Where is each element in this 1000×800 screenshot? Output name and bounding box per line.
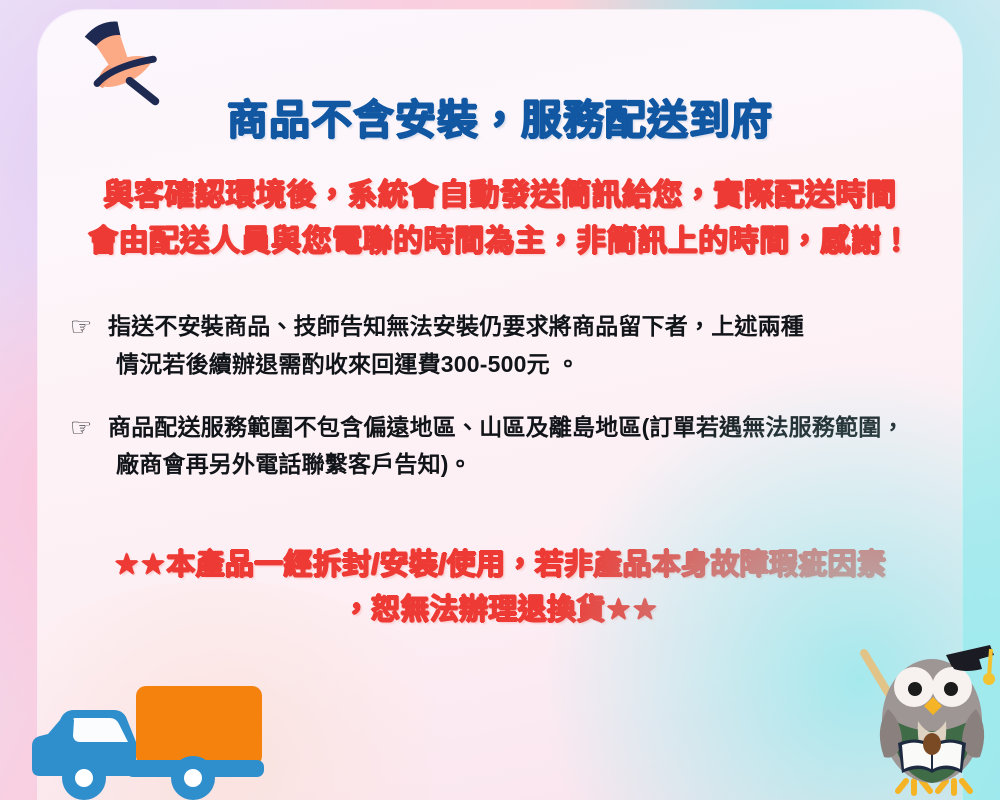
bullet-1-line-2: 情況若後續辦退需酌收來回運費300-500元 。 — [108, 346, 926, 383]
notice-card: 商品不含安裝，服務配送到府 與客確認環境後，系統會自動發送簡訊給您，實際配送時間… — [38, 10, 962, 800]
list-item: ☞ 指送不安裝商品、技師告知無法安裝仍要求將商品留下者，上述兩種 情況若後續辦退… — [70, 308, 926, 383]
lede-paragraph: 與客確認環境後，系統會自動發送簡訊給您，實際配送時間 會由配送人員與您電聯的時間… — [38, 143, 962, 264]
footnote-paragraph: ★★本產品一經拆封/安裝/使用，若非產品本身故障瑕疵因素 ，恕無法辦理退換貨★★ — [38, 483, 962, 633]
promo-banner: 商品不含安裝，服務配送到府 與客確認環境後，系統會自動發送簡訊給您，實際配送時間… — [0, 0, 1000, 800]
page-title: 商品不含安裝，服務配送到府 — [38, 10, 962, 143]
footnote-line-1: ★★本產品一經拆封/安裝/使用，若非產品本身故障瑕疵因素 — [52, 543, 948, 588]
footnote-line-2: ，恕無法辦理退換貨★★ — [52, 588, 948, 633]
bullet-1-line-1: 指送不安裝商品、技師告知無法安裝仍要求將商品留下者，上述兩種 — [108, 308, 926, 345]
list-item: ☞ 商品配送服務範圍不包含偏遠地區、山區及離島地區(訂單若遇無法服務範圍， 廠商… — [70, 409, 926, 484]
pointing-hand-icon: ☞ — [70, 410, 93, 448]
notice-content: 商品不含安裝，服務配送到府 與客確認環境後，系統會自動發送簡訊給您，實際配送時間… — [38, 10, 962, 633]
bullet-2-line-1: 商品配送服務範圍不包含偏遠地區、山區及離島地區(訂單若遇無法服務範圍， — [108, 409, 926, 446]
bullet-list: ☞ 指送不安裝商品、技師告知無法安裝仍要求將商品留下者，上述兩種 情況若後續辦退… — [38, 264, 962, 483]
lede-line-2: 會由配送人員與您電聯的時間為主，非簡訊上的時間，感謝！ — [60, 219, 940, 265]
bullet-2-line-2: 廠商會再另外電話聯繫客戶告知)。 — [108, 446, 926, 483]
pointing-hand-icon: ☞ — [70, 309, 93, 347]
lede-line-1: 與客確認環境後，系統會自動發送簡訊給您，實際配送時間 — [60, 173, 940, 219]
